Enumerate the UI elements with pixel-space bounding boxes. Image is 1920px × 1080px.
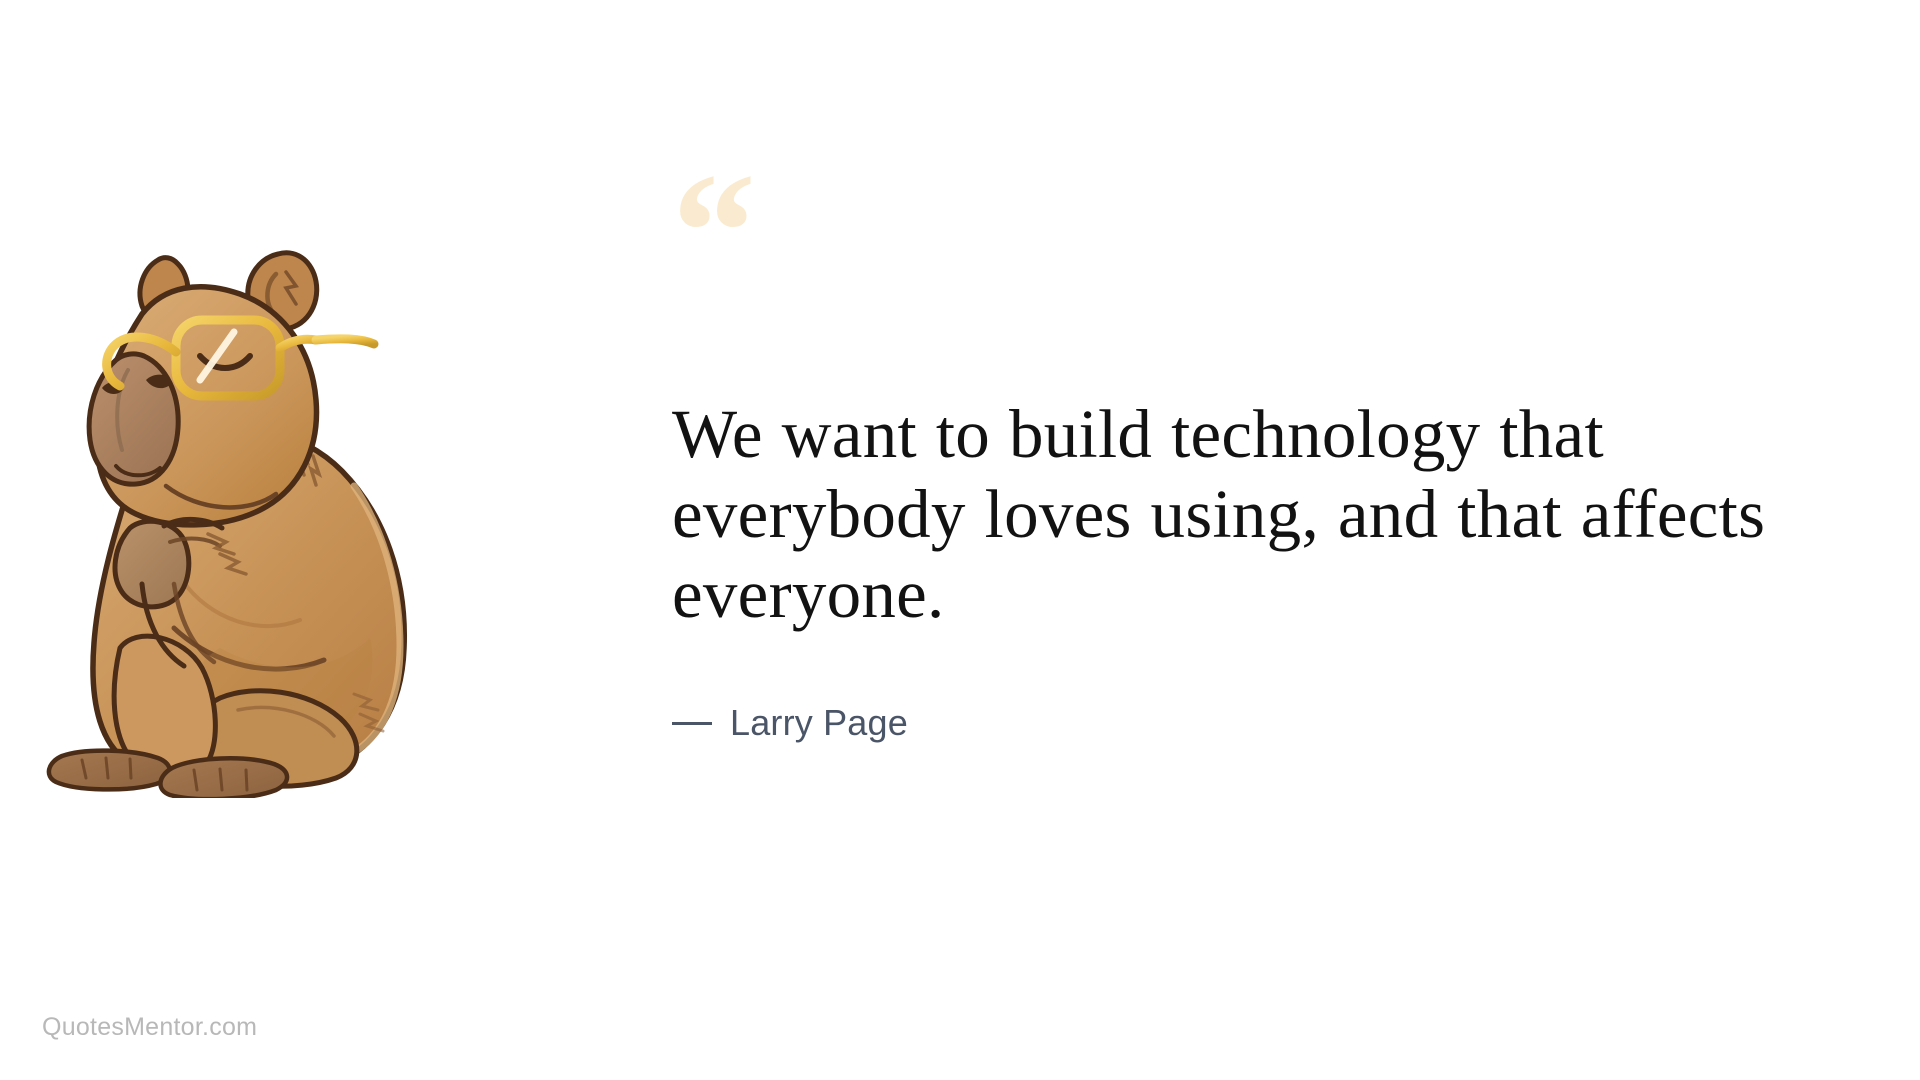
quote-card: “ We want to build technology that every… bbox=[0, 0, 1920, 1080]
quote-block: “ We want to build technology that every… bbox=[672, 180, 1852, 744]
attribution-dash-icon bbox=[672, 722, 712, 725]
attribution-author: Larry Page bbox=[730, 702, 908, 744]
open-quote-icon: “ bbox=[672, 180, 1852, 276]
capybara-illustration bbox=[24, 228, 424, 798]
attribution: Larry Page bbox=[672, 702, 1852, 744]
watermark: QuotesMentor.com bbox=[42, 1013, 257, 1042]
quote-text: We want to build technology that everybo… bbox=[672, 394, 1812, 634]
